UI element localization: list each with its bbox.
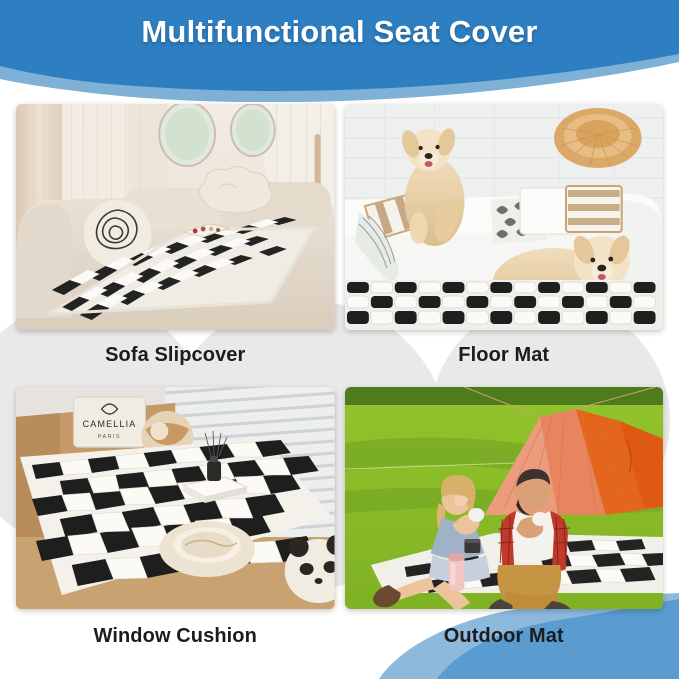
photo-floor-mat	[345, 104, 664, 330]
page-title: Multifunctional Seat Cover	[0, 14, 679, 50]
photo-window-cushion: CAMELLIA PARIS	[16, 387, 335, 609]
product-infographic: Multifunctional Seat Cover	[0, 0, 679, 679]
product-use-grid: Sofa Slipcover	[0, 104, 679, 664]
caption-floor-mat: Floor Mat	[345, 330, 664, 381]
outdoor-mat-illustration	[345, 387, 664, 609]
caption-outdoor-mat: Outdoor Mat	[345, 609, 664, 664]
window-cushion-illustration: CAMELLIA PARIS	[16, 387, 335, 609]
floor-mat-illustration	[345, 104, 664, 330]
header-banner: Multifunctional Seat Cover	[0, 0, 679, 100]
svg-text:PARIS: PARIS	[98, 434, 121, 440]
sofa-slipcover-illustration	[16, 104, 335, 330]
card-sofa-slipcover[interactable]: Sofa Slipcover	[16, 104, 335, 381]
photo-sofa-slipcover	[16, 104, 335, 330]
card-window-cushion[interactable]: CAMELLIA PARIS	[16, 387, 335, 664]
caption-sofa-slipcover: Sofa Slipcover	[16, 330, 335, 381]
photo-outdoor-mat	[345, 387, 664, 609]
card-outdoor-mat[interactable]: Outdoor Mat	[345, 387, 664, 664]
svg-text:CAMELLIA: CAMELLIA	[83, 419, 137, 429]
caption-window-cushion: Window Cushion	[16, 609, 335, 664]
card-floor-mat[interactable]: Floor Mat	[345, 104, 664, 381]
